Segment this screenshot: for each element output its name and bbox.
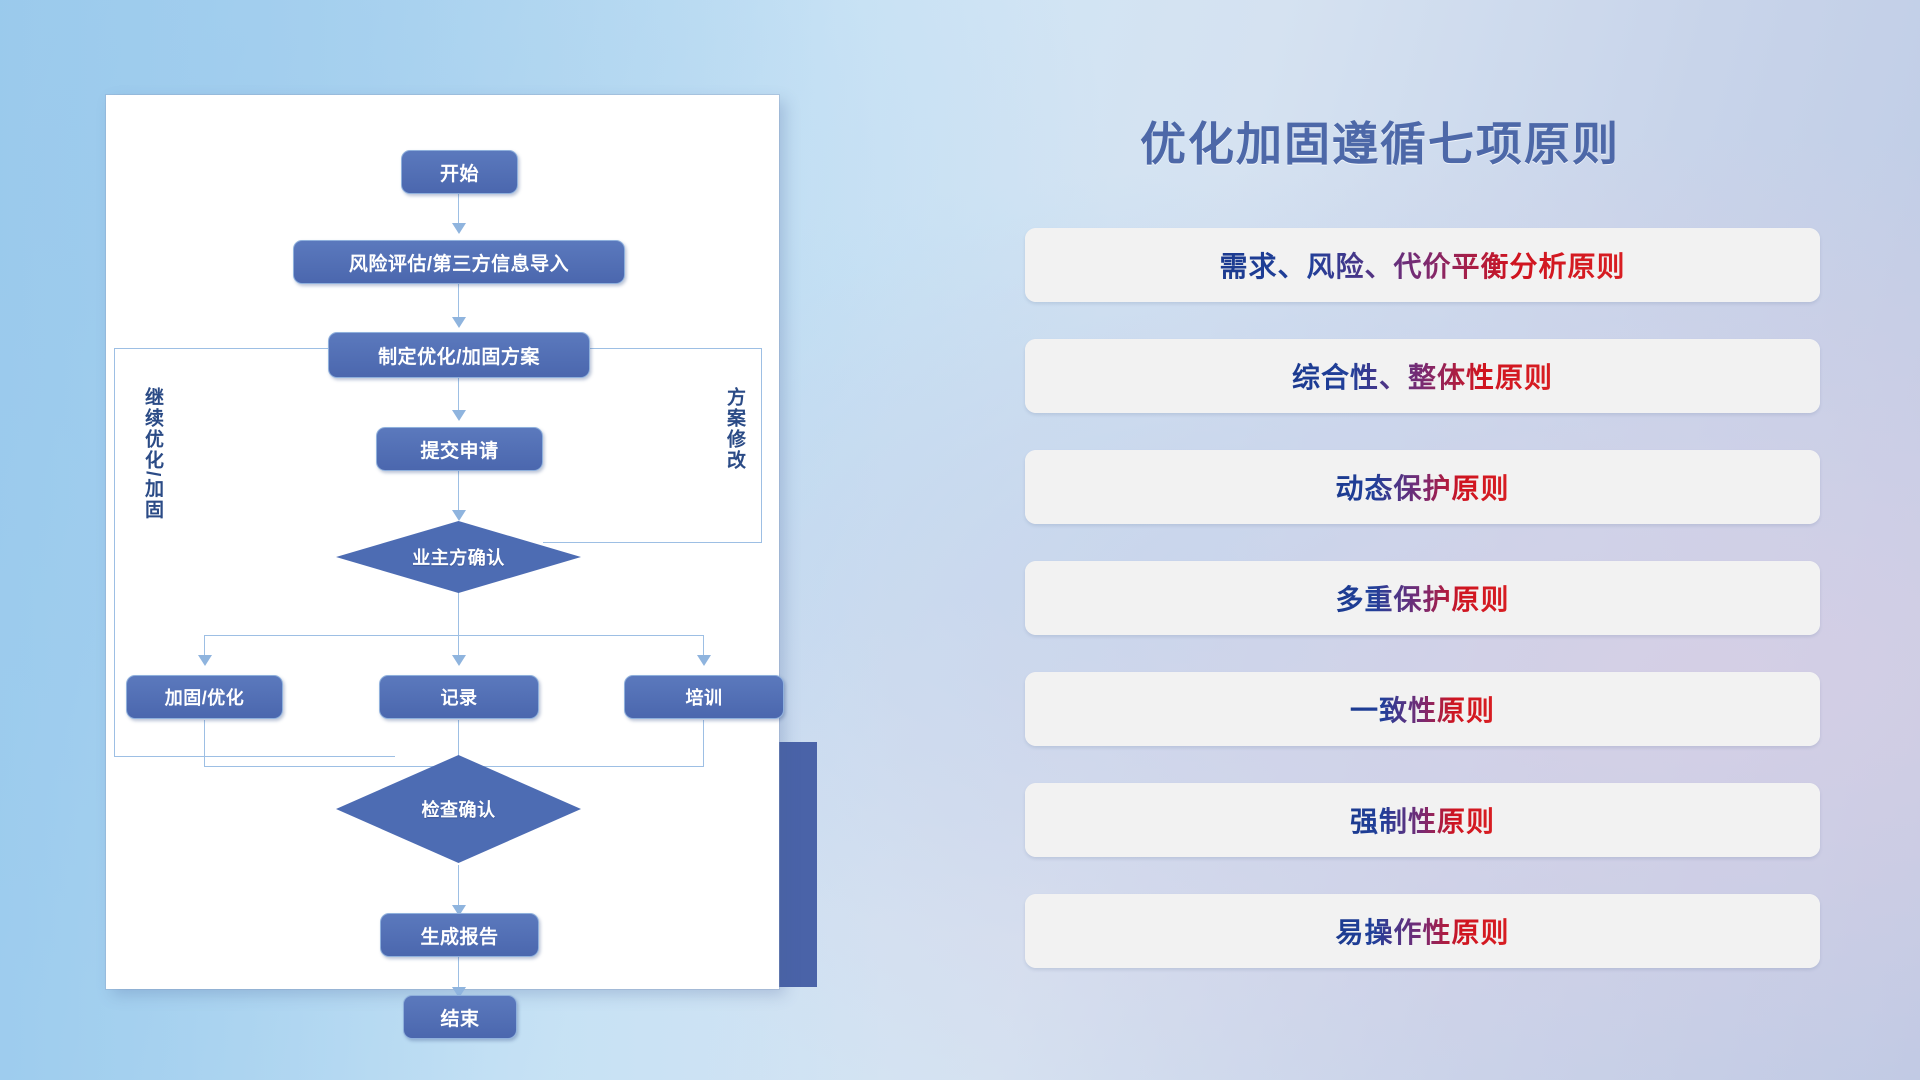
principle-card-2-label: 综合性、整体性原则	[1292, 356, 1553, 396]
principle-card-5-label: 一致性原则	[1350, 689, 1495, 729]
principle-card-1[interactable]: 需求、风险、代价平衡分析原则	[1025, 228, 1820, 302]
arrow-assess-plan	[452, 317, 466, 328]
principle-card-5[interactable]: 一致性原则	[1025, 672, 1820, 746]
page-title: 优化加固遵循七项原则	[980, 108, 1780, 174]
flow-node-submit[interactable]: 提交申请	[376, 427, 543, 471]
flow-node-check-confirm-label: 检查确认	[336, 755, 581, 863]
principle-card-6-label: 强制性原则	[1350, 800, 1495, 840]
arrow-start-assess	[452, 223, 466, 234]
conn-merge-left	[204, 720, 205, 767]
principle-card-1-label: 需求、风险、代价平衡分析原则	[1219, 245, 1625, 285]
principles-panel: 优化加固遵循七项原则 需求、风险、代价平衡分析原则 综合性、整体性原则 动态保护…	[980, 0, 1920, 1080]
flow-node-owner-confirm[interactable]: 业主方确认	[336, 521, 581, 593]
arrow-branch-left	[198, 655, 212, 666]
flowchart-card: 继续优化/加固 方案修改 开始 风险评估/第三方信息导入	[106, 95, 779, 989]
flow-node-assess[interactable]: 风险评估/第三方信息导入	[293, 240, 625, 284]
arrow-plan-submit	[452, 410, 466, 421]
principle-card-7[interactable]: 易操作性原则	[1025, 894, 1820, 968]
principle-card-4[interactable]: 多重保护原则	[1025, 561, 1820, 635]
flow-node-record[interactable]: 记录	[379, 675, 539, 719]
conn-owner-branch	[458, 591, 459, 636]
edge-label-right-loop: 方案修改	[724, 387, 744, 471]
edge-label-left-loop: 继续优化/加固	[142, 387, 162, 520]
flow-node-plan[interactable]: 制定优化/加固方案	[328, 332, 590, 378]
flow-node-end[interactable]: 结束	[403, 995, 517, 1039]
flow-node-train[interactable]: 培训	[624, 675, 784, 719]
flow-node-start[interactable]: 开始	[401, 150, 518, 194]
flow-node-check-confirm[interactable]: 检查确认	[336, 755, 581, 863]
principle-card-6[interactable]: 强制性原则	[1025, 783, 1820, 857]
principle-card-7-label: 易操作性原则	[1335, 911, 1509, 951]
principles-list: 需求、风险、代价平衡分析原则 综合性、整体性原则 动态保护原则 多重保护原则 一…	[1025, 228, 1820, 1005]
arrow-branch-mid	[452, 655, 466, 666]
principle-card-2[interactable]: 综合性、整体性原则	[1025, 339, 1820, 413]
flowchart-panel: 继续优化/加固 方案修改 开始 风险评估/第三方信息导入	[0, 0, 900, 1080]
principle-card-3[interactable]: 动态保护原则	[1025, 450, 1820, 524]
conn-branch-bus	[204, 635, 704, 636]
principle-card-4-label: 多重保护原则	[1335, 578, 1509, 618]
flow-node-reinforce[interactable]: 加固/优化	[126, 675, 283, 719]
principle-card-3-label: 动态保护原则	[1335, 467, 1509, 507]
arrow-branch-right	[697, 655, 711, 666]
flow-node-report[interactable]: 生成报告	[380, 913, 539, 957]
arrow-submit-owner	[452, 510, 466, 521]
flow-node-owner-confirm-label: 业主方确认	[336, 521, 581, 593]
right-loop-side	[761, 348, 762, 543]
conn-merge-right	[703, 720, 704, 767]
